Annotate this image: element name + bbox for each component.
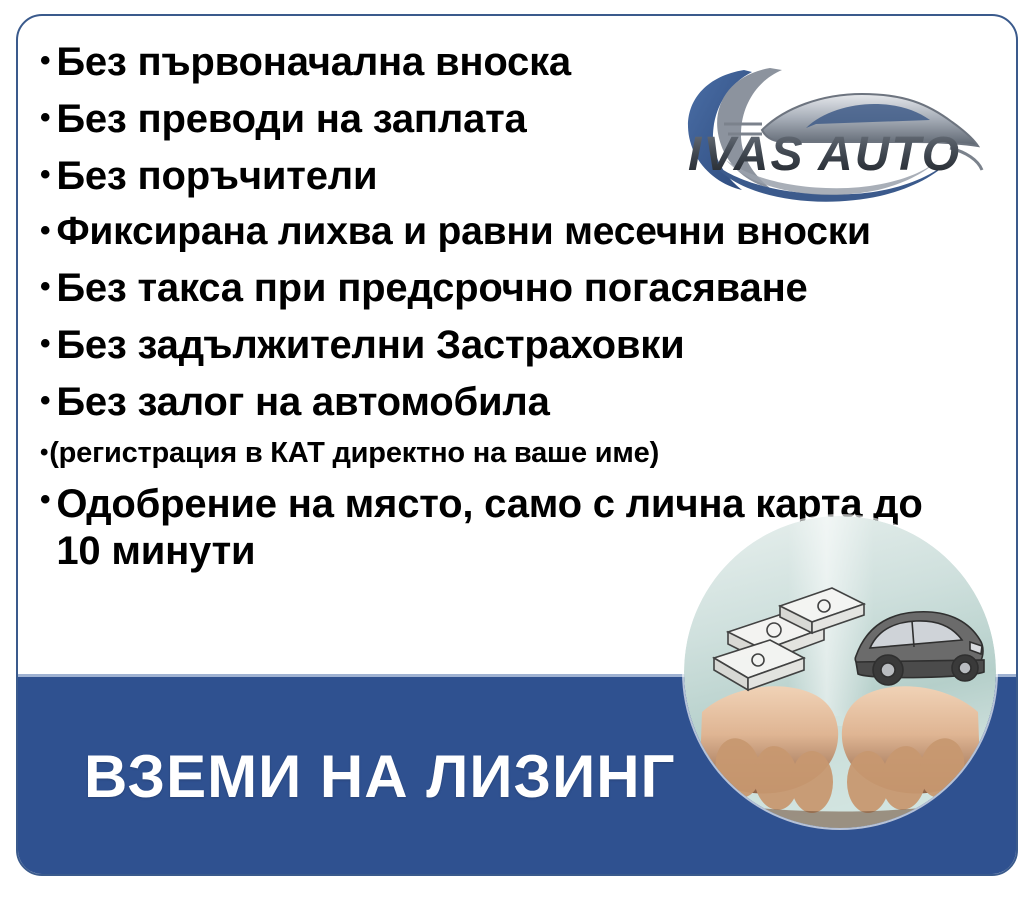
cta-headline: ВЗЕМИ НА ЛИЗИНГ	[84, 747, 676, 807]
list-item: • (регистрация в КАТ директно на ваше им…	[40, 439, 1000, 469]
list-item: • Без залог на автомобила	[40, 382, 1000, 423]
benefit-text: Без залог на автомобила	[56, 382, 549, 423]
bullet-dot-icon: •	[40, 272, 50, 302]
list-item: • Фиксирана лихва и равни месечни вноски	[40, 212, 1000, 252]
benefit-text: Без първоначална вноска	[56, 42, 571, 83]
benefit-note-text: (регистрация в КАТ директно на ваше име)	[49, 439, 659, 469]
bullet-dot-icon: •	[40, 386, 50, 416]
ivas-auto-logo: IVAS AUTO	[666, 52, 996, 202]
bullet-dot-icon: •	[40, 216, 50, 246]
benefit-text: Фиксирана лихва и равни месечни вноски	[56, 212, 871, 252]
benefit-text: Без поръчители	[56, 156, 377, 197]
bullet-dot-icon: •	[40, 485, 50, 515]
hands-holding-money-and-car-photo	[684, 516, 996, 828]
bullet-dot-icon: •	[40, 46, 50, 76]
bullet-dot-icon: •	[40, 329, 50, 359]
bullet-dot-icon: •	[40, 103, 50, 133]
flyer-canvas: • Без първоначална вноска • Без преводи …	[0, 0, 1033, 902]
benefit-text: Без преводи на заплата	[56, 99, 526, 140]
list-item: • Без задължителни Застраховки	[40, 325, 1000, 366]
list-item: • Без такса при предсрочно погасяване	[40, 268, 1000, 309]
benefit-text: Без такса при предсрочно погасяване	[56, 268, 807, 309]
benefit-text: Без задължителни Застраховки	[56, 325, 684, 366]
bullet-dot-icon: •	[40, 441, 48, 465]
bullet-dot-icon: •	[40, 160, 50, 190]
logo-wordmark: IVAS AUTO	[688, 128, 961, 181]
